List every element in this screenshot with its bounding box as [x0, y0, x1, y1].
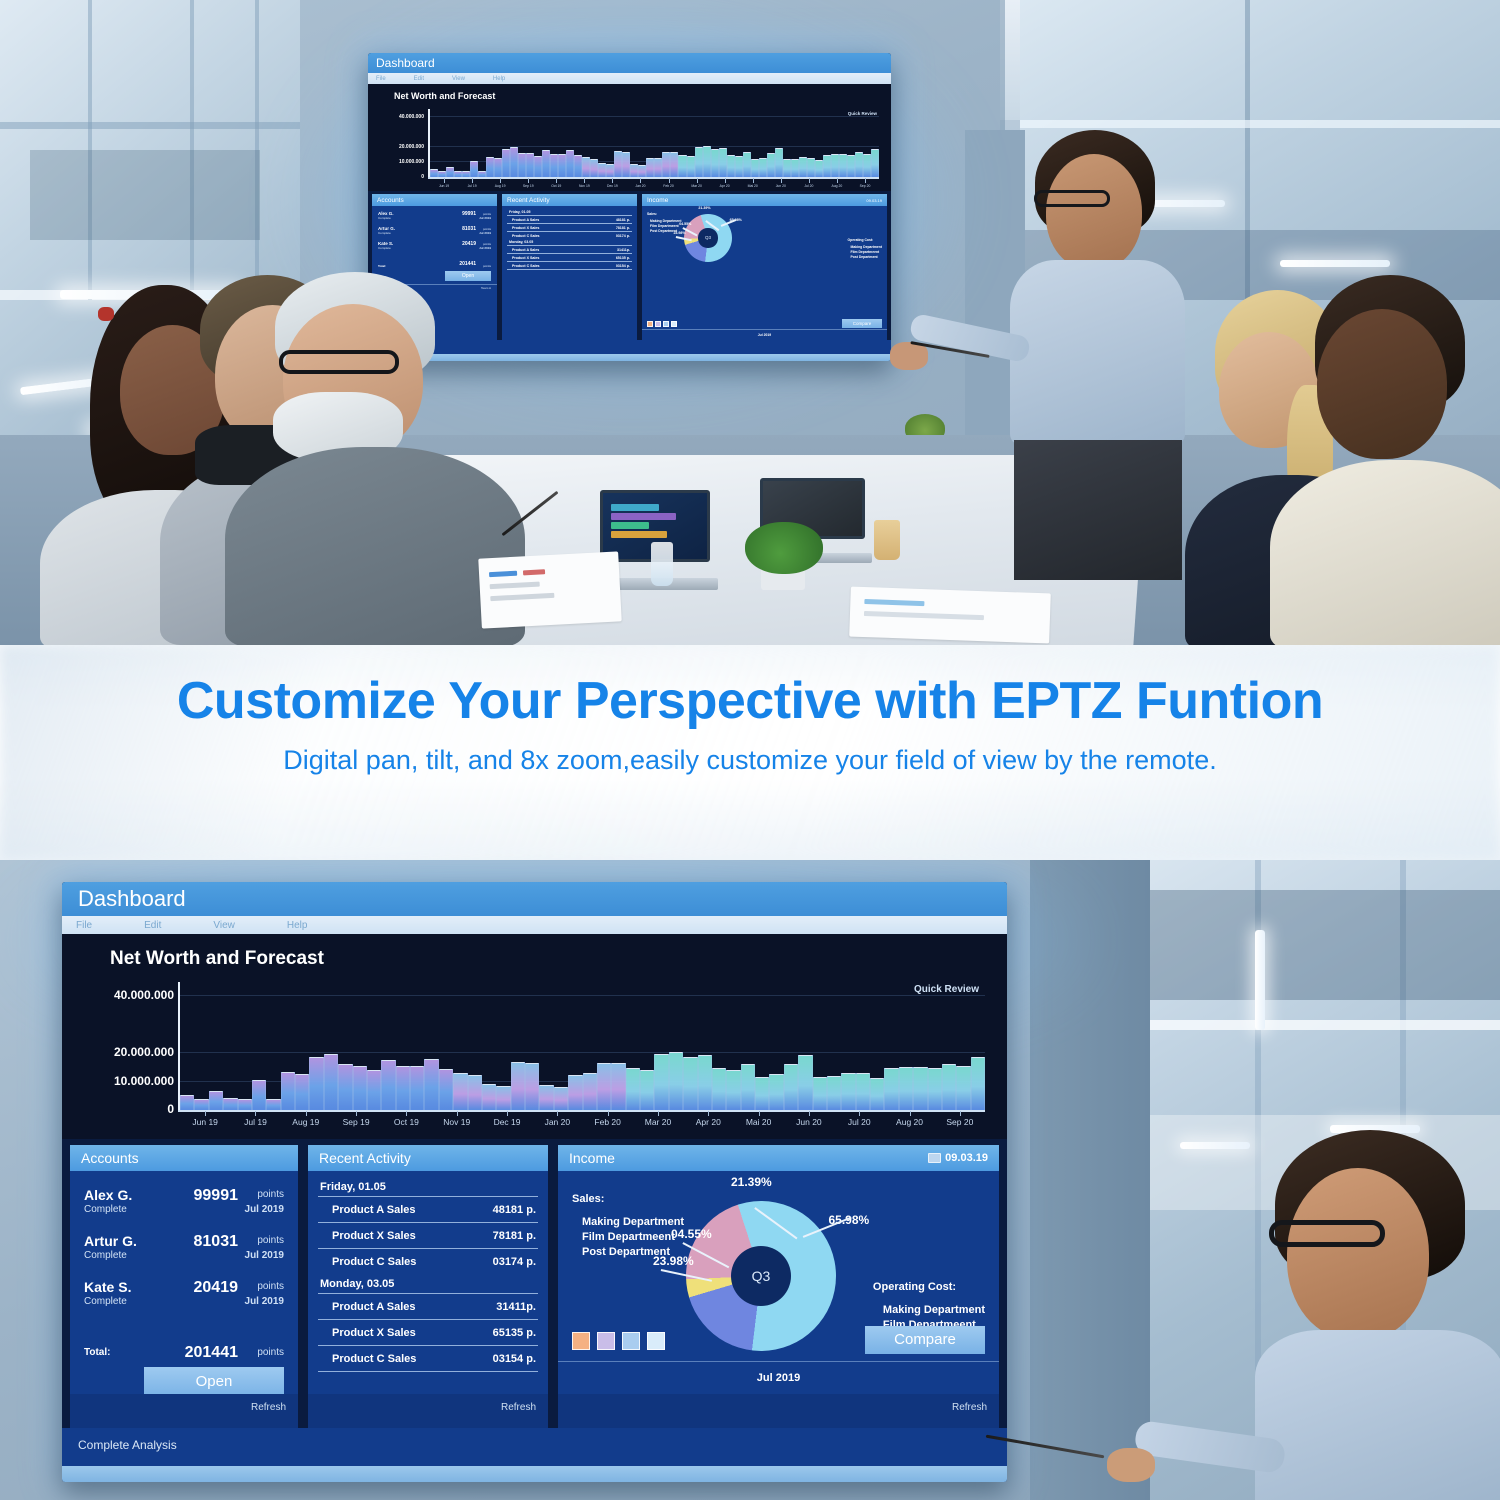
- window-frame-bar: [0, 122, 310, 129]
- chart-bar: [743, 152, 751, 177]
- menu-item-edit[interactable]: Edit: [414, 76, 424, 82]
- chart-bar: [482, 1084, 496, 1110]
- dashboard-app: Dashboard File Edit View Help Net Worth …: [62, 882, 1007, 1482]
- menu-item-help[interactable]: Help: [287, 920, 308, 931]
- activity-value: 03174 p.: [493, 1256, 536, 1268]
- chart-bar: [698, 1055, 712, 1110]
- income-legend-swatches: [647, 321, 677, 327]
- chart-x-tick-label: Aug 19: [281, 1117, 331, 1127]
- divider: [642, 329, 887, 330]
- activity-list-end: [507, 269, 632, 270]
- operating-department: Making Department: [883, 1303, 985, 1318]
- chart-x-tick-label: Sep 20: [851, 184, 879, 188]
- account-row[interactable]: Artur G.Complete81031pointsJul 2019: [378, 226, 491, 238]
- activity-row[interactable]: Product C Sales03154 p.: [507, 261, 632, 269]
- person-seated-man-right: [1295, 275, 1500, 645]
- chart-x-tick-label: Dec 19: [598, 184, 626, 188]
- income-date-badge: 09.03.19: [928, 1152, 988, 1164]
- activity-row[interactable]: Product A Sales48181 p.: [318, 1196, 538, 1222]
- chart-bar: [640, 1070, 654, 1110]
- chart-bar: [784, 1064, 798, 1110]
- chart-bar: [751, 159, 759, 177]
- chart-x-axis-labels: Jun 19Jul 19Aug 19Sep 19Oct 19Nov 19Dec …: [430, 184, 879, 188]
- legend-swatch[interactable]: [647, 1332, 665, 1350]
- activity-label: Product A Sales: [512, 248, 539, 252]
- chart-bar: [741, 1064, 755, 1110]
- chart-bar: [823, 155, 831, 178]
- chart-bar: [646, 158, 654, 177]
- chart-x-tick-label: Sep 20: [935, 1117, 985, 1127]
- chart-bar: [430, 169, 438, 177]
- chart-bar: [683, 1057, 697, 1110]
- chart-y-tick-label: 10.000.000: [62, 1074, 174, 1088]
- operating-cost-label: Operating Cost:: [848, 238, 882, 242]
- chart-x-tick-label: Aug 19: [486, 184, 514, 188]
- account-status: Complete: [84, 1204, 127, 1215]
- operating-cost-legend: Operating Cost:Making DepartmentFilm Dep…: [848, 238, 882, 260]
- chart-x-axis: [178, 1110, 985, 1112]
- menu-item-file[interactable]: File: [76, 920, 92, 931]
- chart-bar: [468, 1075, 482, 1110]
- recent-activity-refresh-link[interactable]: Refresh: [501, 1402, 536, 1413]
- chart-bar: [583, 1073, 597, 1110]
- chart-bar: [611, 1063, 625, 1111]
- activity-row[interactable]: Product X Sales78181 p.: [318, 1222, 538, 1248]
- account-points: 81031: [462, 226, 476, 232]
- account-name: Artur G.: [84, 1233, 137, 1249]
- account-points-unit: points: [257, 1189, 284, 1200]
- chart-bars: [180, 982, 985, 1110]
- chart-bar: [539, 1085, 553, 1110]
- accounts-total-unit: points: [257, 1347, 284, 1358]
- income-compare-button[interactable]: Compare: [865, 1326, 985, 1354]
- chart-x-tick-label: Mar 20: [683, 184, 711, 188]
- activity-value: 31411p.: [496, 1301, 536, 1313]
- chart-x-tick-label: Nov 19: [570, 184, 598, 188]
- chart-bar: [209, 1091, 223, 1110]
- chart-bar: [719, 148, 727, 177]
- chart-bar: [396, 1066, 410, 1110]
- chart-bar: [510, 147, 518, 177]
- sales-label: Sales:: [647, 212, 681, 216]
- chart-bar: [815, 160, 823, 177]
- chart-bar: [703, 146, 711, 177]
- chart-bar: [574, 155, 582, 177]
- chart-bar: [525, 1063, 539, 1111]
- chart-x-tick-label: Oct 19: [381, 1117, 431, 1127]
- chart-bar: [511, 1062, 525, 1110]
- chart-bar: [839, 154, 847, 177]
- menu-item-file[interactable]: File: [376, 76, 386, 82]
- chart-bar: [638, 165, 646, 177]
- chart-bar: [424, 1059, 438, 1110]
- activity-value: 78181 p.: [616, 226, 630, 230]
- account-points: 20419: [194, 1279, 239, 1297]
- account-date: Jul 2019: [479, 246, 491, 250]
- chart-x-tick-label: Mar 20: [633, 1117, 683, 1127]
- chart-bar: [496, 1086, 510, 1110]
- account-date: Jul 2019: [479, 231, 491, 235]
- chart-bar: [670, 152, 678, 177]
- chart-bar: [622, 152, 630, 177]
- chart-bar: [597, 1063, 611, 1110]
- activity-row[interactable]: Product X Sales78181 p.: [507, 223, 632, 231]
- activity-value: 03174 p.: [616, 234, 630, 238]
- chart-x-tick-label: Jul 19: [458, 184, 486, 188]
- chart-bar: [841, 1073, 855, 1110]
- chart-bar: [453, 1073, 467, 1110]
- chart-y-tick-label: 0: [368, 174, 424, 180]
- recent-activity-heading: Recent Activity: [319, 1150, 411, 1166]
- chart-bar: [534, 156, 542, 177]
- chart-bar: [678, 155, 686, 178]
- account-status: Complete: [84, 1250, 127, 1261]
- chart-bar: [353, 1066, 367, 1110]
- chart-bar: [871, 149, 879, 177]
- legend-swatch[interactable]: [663, 321, 669, 327]
- activity-value: 03154 p.: [616, 264, 630, 268]
- donut-percentage-label: 23.98%: [653, 1254, 694, 1268]
- chart-y-tick-label: 20.000.000: [62, 1045, 174, 1059]
- income-period-label: Jul 2019: [642, 333, 887, 337]
- income-date-value: 09.03.19: [945, 1152, 988, 1164]
- accounts-total-label: Total:: [84, 1347, 110, 1358]
- chart-x-tick-label: Jun 20: [767, 184, 795, 188]
- complete-analysis-label[interactable]: Complete Analysis: [78, 1438, 177, 1452]
- legend-swatch[interactable]: [647, 321, 653, 327]
- banner-headline: Customize Your Perspective with EPTZ Fun…: [0, 671, 1500, 731]
- sales-legend: Sales:Making DepartmentFilm DepartmeentP…: [572, 1193, 684, 1260]
- chart-x-axis: [428, 177, 879, 179]
- chart-x-tick-label: Jan 20: [532, 1117, 582, 1127]
- chart-bar: [381, 1060, 395, 1110]
- chart-bar: [446, 167, 454, 177]
- account-points: 81031: [194, 1233, 239, 1251]
- chart-bar: [783, 159, 791, 177]
- chart-bar: [971, 1057, 985, 1110]
- income-legend-swatches: [572, 1332, 665, 1350]
- chart-bar: [568, 1075, 582, 1110]
- donut-percentage-label: 21.39%: [731, 1175, 772, 1189]
- chart-bar: [223, 1098, 237, 1110]
- chart-x-tick-label: Apr 20: [683, 1117, 733, 1127]
- activity-value: 48181 p.: [493, 1204, 536, 1216]
- chart-bar: [695, 147, 703, 177]
- income-donut-chart[interactable]: Q3: [686, 1201, 836, 1351]
- chart-x-tick-label: Nov 19: [432, 1117, 482, 1127]
- accounts-total-label: Total:: [378, 264, 386, 268]
- chart-bar: [598, 163, 606, 177]
- chart-bar: [791, 159, 799, 177]
- activity-row[interactable]: Product X Sales65135 p.: [318, 1319, 538, 1345]
- donut-percentage-label: 04.55%: [671, 1227, 712, 1241]
- activity-label: Product A Sales: [512, 218, 539, 222]
- accounts-heading: Accounts: [81, 1150, 139, 1166]
- chart-y-tick-label: 0: [62, 1102, 174, 1116]
- chart-bar: [180, 1095, 194, 1110]
- legend-swatch[interactable]: [572, 1332, 590, 1350]
- chart-bar: [526, 153, 534, 177]
- activity-row[interactable]: Product A Sales31411p.: [318, 1293, 538, 1319]
- activity-value: 31411p.: [617, 248, 630, 252]
- accounts-total-unit: points: [483, 264, 491, 268]
- chart-bar: [856, 1073, 870, 1110]
- chart-bar: [606, 164, 614, 177]
- activity-row[interactable]: Product X Sales65135 p.: [507, 253, 632, 261]
- activity-row[interactable]: Product A Sales48181 p.: [507, 215, 632, 223]
- activity-label: Product A Sales: [332, 1204, 416, 1216]
- water-glass: [651, 542, 673, 586]
- account-points-unit: points: [257, 1281, 284, 1292]
- activity-date-header: Monday, 03.05: [509, 240, 632, 244]
- chart-bar: [630, 164, 638, 177]
- chart-bar: [847, 155, 855, 177]
- window-reflection: [30, 150, 260, 240]
- chart-bar: [863, 154, 871, 177]
- menu-item-help[interactable]: Help: [493, 76, 505, 82]
- chart-bar: [884, 1068, 898, 1110]
- accounts-panel: Accounts Alex G.Complete99991pointsJul 2…: [70, 1145, 298, 1428]
- chart-bar: [654, 158, 662, 177]
- chart-bar: [775, 148, 783, 177]
- chart-bar: [295, 1074, 309, 1110]
- income-heading-top: Income: [647, 197, 668, 204]
- chart-bar: [712, 1068, 726, 1110]
- activity-date-header: Friday, 01.05: [509, 210, 632, 214]
- bottom-conference-photo: Dashboard File Edit View Help Net Worth …: [0, 860, 1500, 1500]
- account-row[interactable]: Kate S.Complete20419pointsJul 2019: [84, 1279, 284, 1313]
- calendar-icon: [928, 1153, 941, 1163]
- chart-bar: [486, 157, 494, 177]
- chart-bars: [430, 109, 879, 177]
- printed-report: [478, 551, 621, 628]
- chart-x-tick-label: Jun 19: [180, 1117, 230, 1127]
- chart-x-tick-label: Sep 19: [331, 1117, 381, 1127]
- chart-x-tick-label: Feb 20: [583, 1117, 633, 1127]
- chart-bar: [913, 1067, 927, 1110]
- activity-label: Product C Sales: [512, 234, 540, 238]
- chart-y-tick-label: 20.000.000: [368, 144, 424, 150]
- chart-bar: [558, 154, 566, 177]
- activity-label: Product X Sales: [332, 1327, 416, 1339]
- banner-subline: Digital pan, tilt, and 8x zoom,easily cu…: [0, 745, 1500, 776]
- activity-label: Product X Sales: [512, 256, 539, 260]
- account-row[interactable]: Kate S.Complete20419pointsJul 2019: [378, 241, 491, 253]
- chart-bar: [238, 1099, 252, 1110]
- dashboard-title: Dashboard: [78, 886, 186, 912]
- accounts-total-value: 201441: [459, 261, 476, 267]
- person-presenter: [1235, 1130, 1500, 1500]
- chart-bar: [928, 1068, 942, 1110]
- chart-bar: [266, 1099, 280, 1110]
- chart-bar: [755, 1077, 769, 1110]
- operating-cost-label: Operating Cost:: [873, 1281, 985, 1293]
- sales-department: Making Department: [582, 1215, 684, 1230]
- chart-bar: [338, 1064, 352, 1110]
- chart-bar: [281, 1072, 295, 1110]
- chart-x-tick-label: Sep 19: [514, 184, 542, 188]
- activity-row[interactable]: Product C Sales03174 p.: [507, 231, 632, 239]
- activity-row[interactable]: Product A Sales31411p.: [507, 245, 632, 253]
- chart-bar: [309, 1057, 323, 1110]
- chart-bar: [726, 1070, 740, 1110]
- coffee-cup: [874, 520, 900, 560]
- legend-swatch[interactable]: [671, 321, 677, 327]
- account-points: 99991: [194, 1187, 239, 1205]
- income-date-top: 09.03.19: [866, 198, 882, 203]
- chart-bar: [252, 1080, 266, 1110]
- chart-bar: [194, 1099, 208, 1110]
- legend-swatch[interactable]: [622, 1332, 640, 1350]
- chart-x-tick-label: Jan 20: [626, 184, 654, 188]
- legend-swatch[interactable]: [655, 321, 661, 327]
- income-period-label: Jul 2019: [558, 1372, 999, 1384]
- table-plant: [745, 520, 820, 590]
- chart-bar: [956, 1066, 970, 1110]
- chart-title: Net Worth and Forecast: [110, 948, 324, 970]
- accounts-refresh-link[interactable]: Refresh: [251, 1402, 286, 1413]
- activity-label: Product X Sales: [332, 1230, 416, 1242]
- chart-bar: [799, 157, 807, 177]
- activity-row[interactable]: Product C Sales03154 p.: [318, 1345, 538, 1371]
- chart-bar: [759, 158, 767, 177]
- chart-bar: [798, 1055, 812, 1110]
- chart-bar: [654, 1054, 668, 1110]
- activity-row[interactable]: Product C Sales03174 p.: [318, 1248, 538, 1274]
- wall-display-bottom[interactable]: Dashboard File Edit View Help Net Worth …: [62, 882, 1007, 1482]
- chart-x-tick-label: Apr 20: [711, 184, 739, 188]
- activity-value: 78181 p.: [493, 1230, 536, 1242]
- income-refresh-link[interactable]: Refresh: [952, 1402, 987, 1413]
- income-panel: Income 09.03.19 Sales:Making DepartmentF…: [558, 1145, 999, 1428]
- chart-y-axis: [178, 982, 180, 1110]
- ceiling-light: [1280, 260, 1390, 267]
- activity-label: Product A Sales: [332, 1301, 416, 1313]
- accounts-open-button[interactable]: Open: [144, 1367, 284, 1397]
- account-points-unit: points: [257, 1235, 284, 1246]
- account-status: Complete: [378, 246, 391, 250]
- chart-bar: [367, 1070, 381, 1110]
- chart-x-tick-label: Jul 20: [834, 1117, 884, 1127]
- chart-x-tick-label: Mai 20: [733, 1117, 783, 1127]
- legend-swatch[interactable]: [597, 1332, 615, 1350]
- chart-bar: [735, 156, 743, 177]
- chart-bar: [518, 153, 526, 177]
- activity-date-header: Monday, 03.05: [320, 1278, 538, 1290]
- donut-percentage-label: 21.39%: [698, 206, 710, 210]
- account-points: 20419: [462, 241, 476, 247]
- activity-list-end: [318, 1371, 538, 1372]
- chart-y-tick-label: 40.000.000: [62, 988, 174, 1002]
- chart-x-tick-label: Mai 20: [739, 184, 767, 188]
- promo-banner: Customize Your Perspective with EPTZ Fun…: [0, 645, 1500, 860]
- chart-bar: [554, 1087, 568, 1110]
- chart-bar: [827, 1076, 841, 1110]
- accounts-heading-top: Accounts: [377, 197, 404, 204]
- chart-bar: [807, 158, 815, 177]
- person-presenter: [1000, 130, 1200, 550]
- donut-percentage-label: 04.55%: [679, 222, 691, 226]
- chart-bar: [813, 1077, 827, 1110]
- chart-bar: [550, 154, 558, 177]
- donut-percentage-label: 23.98%: [673, 231, 685, 235]
- menu-item-view[interactable]: View: [213, 920, 235, 931]
- ceiling-light: [1255, 930, 1265, 1030]
- chart-x-tick-label: Jun 20: [784, 1117, 834, 1127]
- chart-bar: [614, 151, 622, 177]
- chart-bar: [410, 1066, 424, 1110]
- recent-activity-panel: Recent Activity Friday, 01.05Product A S…: [308, 1145, 548, 1428]
- donut-percentage-label: 65.98%: [829, 1213, 870, 1227]
- chart-title-top: Net Worth and Forecast: [394, 91, 495, 101]
- chart-bar: [494, 158, 502, 177]
- chart-bar: [439, 1069, 453, 1110]
- chart-bar: [669, 1052, 683, 1110]
- menu-item-view[interactable]: View: [452, 76, 465, 82]
- income-compare-button[interactable]: Compare: [842, 319, 882, 328]
- chart-bar: [870, 1078, 884, 1110]
- chart-bar: [831, 154, 839, 177]
- chart-x-tick-label: Dec 19: [482, 1117, 532, 1127]
- chart-bar: [727, 155, 735, 177]
- account-date: Jul 2019: [245, 1296, 284, 1307]
- income-heading: Income: [569, 1150, 615, 1166]
- chart-bar: [687, 156, 695, 177]
- chart-x-tick-label: Jul 20: [795, 184, 823, 188]
- chart-x-tick-label: Jun 19: [430, 184, 458, 188]
- printed-report: [849, 587, 1051, 644]
- account-name: Alex G.: [84, 1187, 132, 1203]
- activity-date-header: Friday, 01.05: [320, 1181, 538, 1193]
- chart-y-tick-label: 40.000.000: [368, 114, 424, 120]
- chart-x-tick-label: Aug 20: [823, 184, 851, 188]
- chart-bar: [470, 161, 478, 177]
- activity-value: 03154 p.: [493, 1353, 536, 1365]
- chart-bar: [542, 150, 550, 177]
- promo-page: Dashboard File Edit View Help Net Worth …: [0, 0, 1500, 1500]
- accounts-total-value: 201441: [185, 1344, 238, 1362]
- chart-bar: [566, 150, 574, 177]
- recent-activity-heading-top: Recent Activity: [507, 197, 550, 204]
- activity-label: Product C Sales: [332, 1256, 416, 1268]
- chart-bar: [942, 1064, 956, 1110]
- top-conference-photo: Dashboard File Edit View Help Net Worth …: [0, 0, 1500, 645]
- account-row[interactable]: Alex G.Complete99991pointsJul 2019: [84, 1187, 284, 1221]
- account-points: 99991: [462, 211, 476, 217]
- account-name: Kate S.: [84, 1279, 131, 1295]
- chart-x-axis-labels: Jun 19Jul 19Aug 19Sep 19Oct 19Nov 19Dec …: [180, 1117, 985, 1127]
- account-row[interactable]: Alex G.Complete99991pointsJul 2019: [378, 211, 491, 223]
- activity-value: 65135 p.: [616, 256, 630, 260]
- chart-bar: [662, 152, 670, 177]
- activity-label: Product X Sales: [512, 226, 539, 230]
- donut-center-label: Q3: [698, 228, 717, 247]
- activity-label: Product C Sales: [332, 1353, 416, 1365]
- account-row[interactable]: Artur G.Complete81031pointsJul 2019: [84, 1233, 284, 1267]
- chart-bar: [711, 149, 719, 177]
- chart-bar: [582, 157, 590, 177]
- chart-x-tick-label: Jul 19: [230, 1117, 280, 1127]
- activity-label: Product C Sales: [512, 264, 540, 268]
- menu-item-edit[interactable]: Edit: [144, 920, 161, 931]
- account-status: Complete: [84, 1296, 127, 1307]
- chart-bar: [626, 1068, 640, 1110]
- window-frame-bar: [1020, 120, 1500, 128]
- chart-bar: [899, 1067, 913, 1110]
- activity-value: 48181 p.: [616, 218, 630, 222]
- chart-x-tick-label: Aug 20: [884, 1117, 934, 1127]
- chart-bar: [855, 152, 863, 177]
